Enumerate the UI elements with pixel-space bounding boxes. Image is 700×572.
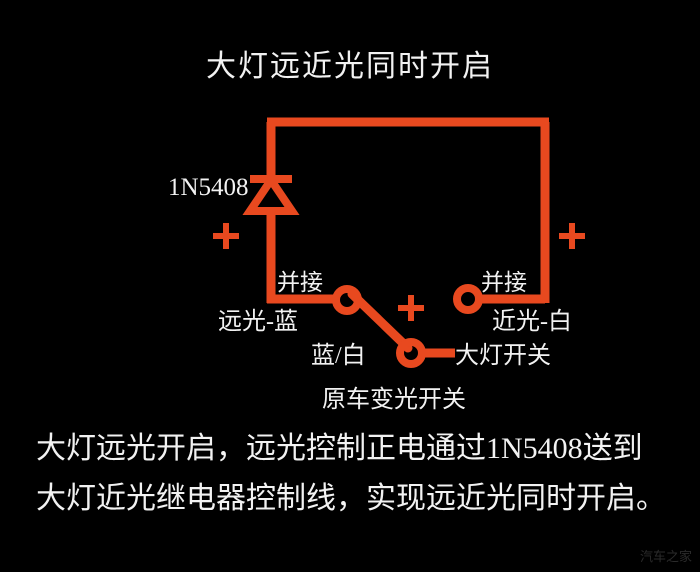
caption-line-2: 大灯近光继电器控制线，实现远近光同时开启。	[36, 484, 666, 514]
diagram-screenshot: 大灯远近光同时开启	[0, 0, 700, 572]
headlight-switch-label: 大灯开关	[455, 344, 551, 368]
diode-triangle-icon	[250, 180, 292, 211]
plus-marker-left	[213, 223, 239, 249]
dimmer-switch-label: 原车变光开关	[322, 388, 466, 412]
diode-label: 1N5408	[168, 175, 249, 200]
switch-pivot-node	[400, 342, 422, 364]
high-beam-wire-label: 远光-蓝	[218, 310, 298, 334]
low-beam-wire-label: 近光-白	[492, 310, 572, 334]
junction-node-left	[336, 289, 358, 311]
watermark: 汽车之家	[640, 551, 692, 564]
plus-marker-center	[398, 295, 424, 321]
junction-right-label: 并接	[481, 271, 527, 294]
junction-left-label: 并接	[277, 271, 323, 294]
junction-node-right	[457, 288, 479, 310]
plus-marker-right	[559, 223, 585, 249]
caption-line-1: 大灯远光开启，远光控制正电通过1N5408送到	[36, 434, 643, 464]
common-wire-label: 蓝/白	[311, 344, 366, 368]
